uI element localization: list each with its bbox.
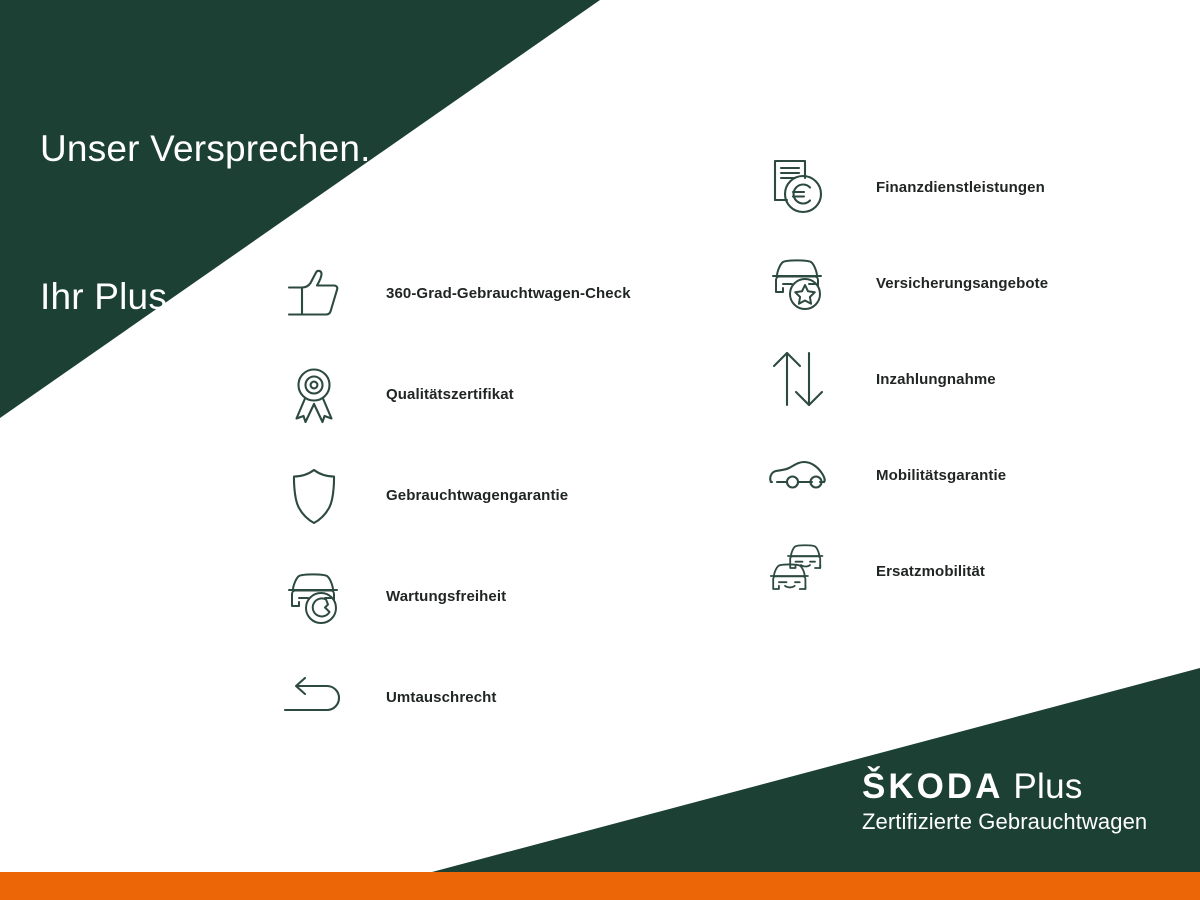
award-rosette-icon — [278, 359, 350, 431]
feature-item: Ersatzmobilität — [762, 523, 1048, 619]
car-wrench-icon — [278, 561, 350, 633]
feature-label: Inzahlungnahme — [876, 371, 996, 388]
thumbs-up-icon — [278, 258, 350, 330]
car-star-icon — [762, 247, 834, 319]
brand-tagline: Zertifizierte Gebrauchtwagen — [862, 809, 1147, 835]
two-cars-icon — [762, 535, 834, 607]
feature-item: Mobilitätsgarantie — [762, 427, 1048, 523]
feature-item: 360-Grad-Gebrauchtwagen-Check — [278, 243, 631, 344]
brand-lockup: ŠKODAPlus Zertifizierte Gebrauchtwagen — [862, 769, 1147, 835]
orange-accent-bar — [0, 872, 1200, 900]
feature-item: Umtauschrecht — [278, 647, 631, 748]
feature-label: Umtauschrecht — [386, 689, 497, 706]
feature-label: Wartungsfreiheit — [386, 588, 506, 605]
feature-label: Gebrauchtwagengarantie — [386, 487, 568, 504]
brand-title-row: ŠKODAPlus — [862, 769, 1147, 806]
feature-label: Ersatzmobilität — [876, 563, 985, 580]
feature-item: Qualitätszertifikat — [278, 344, 631, 445]
promo-banner: Unser Versprechen. Ihr Plus. 360-Grad-Ge… — [0, 0, 1200, 900]
feature-item: Finanzdienstleistungen — [762, 139, 1048, 235]
brand-name: ŠKODA — [862, 767, 1003, 806]
feature-label: 360-Grad-Gebrauchtwagen-Check — [386, 285, 631, 302]
shield-icon — [278, 460, 350, 532]
feature-list-left: 360-Grad-Gebrauchtwagen-Check Qualitätsz… — [278, 243, 631, 748]
feature-label: Finanzdienstleistungen — [876, 179, 1045, 196]
brand-suffix: Plus — [1013, 767, 1082, 806]
feature-item: Inzahlungnahme — [762, 331, 1048, 427]
feature-label: Qualitätszertifikat — [386, 386, 514, 403]
car-side-icon — [762, 439, 834, 511]
feature-item: Gebrauchtwagengarantie — [278, 445, 631, 546]
headline-line-1: Unser Versprechen. — [40, 124, 371, 173]
up-down-arrows-icon — [762, 343, 834, 415]
feature-item: Versicherungsangebote — [762, 235, 1048, 331]
feature-list-right: Finanzdienstleistungen Versicherungsange… — [762, 139, 1048, 619]
feature-label: Mobilitätsgarantie — [876, 467, 1006, 484]
feature-label: Versicherungsangebote — [876, 275, 1048, 292]
document-euro-icon — [762, 151, 834, 223]
feature-item: Wartungsfreiheit — [278, 546, 631, 647]
return-arrow-icon — [278, 662, 350, 734]
